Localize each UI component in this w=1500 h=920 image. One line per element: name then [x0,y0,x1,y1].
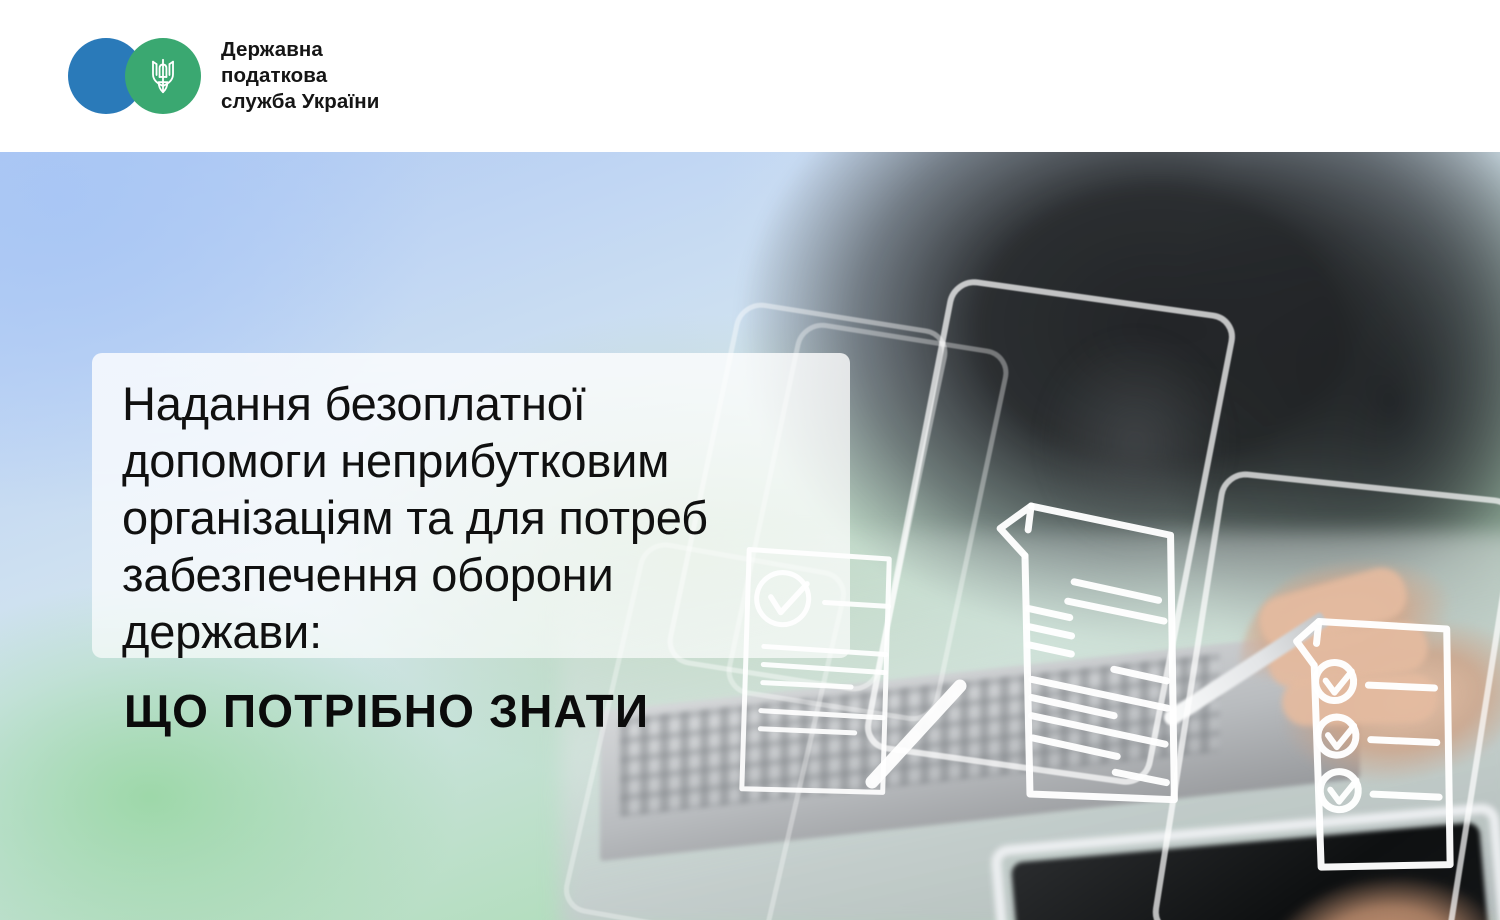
tryzub-icon [146,56,180,96]
organization-logo: Державна податкова служба України [68,37,379,115]
poster-canvas: Державна податкова служба України [0,0,1500,920]
page-title: Надання безоплатної допомоги неприбутков… [122,375,882,660]
page-subtitle: ЩО ПОТРІБНО ЗНАТИ [124,684,649,738]
logo-marks [68,38,201,114]
page-header: Державна податкова служба України [0,0,1500,152]
organization-name: Державна податкова служба України [221,37,379,115]
finger-3 [1281,673,1438,726]
green-circle-icon [125,38,201,114]
